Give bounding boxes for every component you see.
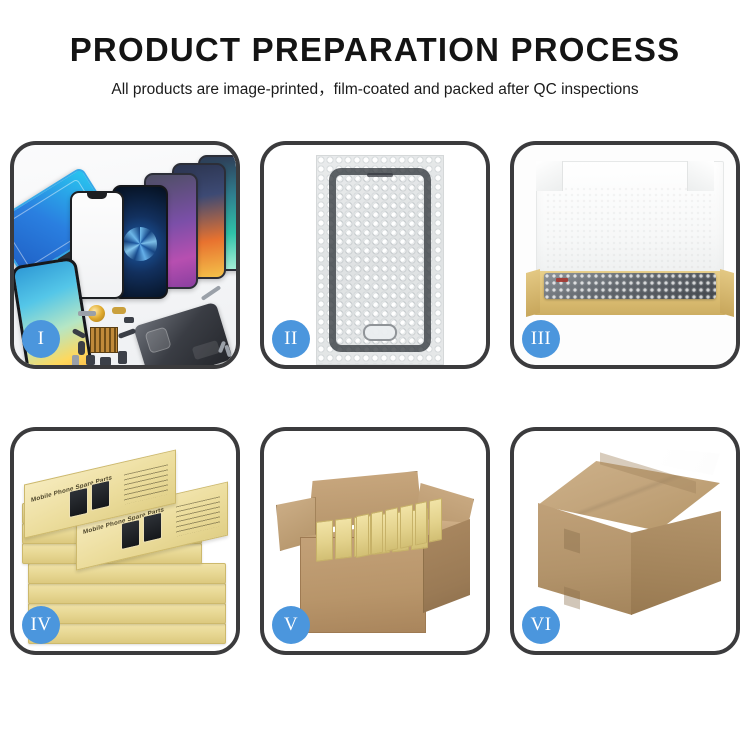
step-image-1: I: [14, 145, 236, 365]
foam-flap-right: [687, 161, 714, 191]
kraft-box-tray: [532, 271, 728, 315]
process-steps-grid: I II: [10, 141, 740, 655]
page-title: PRODUCT PREPARATION PROCESS: [0, 32, 750, 68]
header: PRODUCT PREPARATION PROCESS All products…: [0, 0, 750, 100]
step-panel-1[interactable]: I: [10, 141, 240, 369]
step-badge-1: I: [22, 320, 60, 358]
product-preparation-process-page: PRODUCT PREPARATION PROCESS All products…: [0, 0, 750, 750]
step-badge-6: VI: [522, 606, 560, 644]
box-product-thumbnail: [91, 480, 110, 511]
step-badge-4: IV: [22, 606, 60, 644]
box-spec-text-lines: [124, 464, 168, 504]
retail-box-edge: [28, 583, 226, 604]
retail-box-in-carton: [415, 501, 428, 546]
bubble-wrap-sheet: [316, 155, 444, 365]
step-image-6: VI: [514, 431, 736, 651]
small-part-icon: [100, 357, 111, 365]
box-spec-text-lines: [176, 496, 220, 536]
retail-box-edge: [28, 563, 226, 584]
box-product-thumbnail: [69, 487, 88, 518]
step-image-3: III: [514, 145, 736, 365]
label-sticker-icon: [556, 278, 568, 282]
small-part-icon: [124, 317, 134, 323]
screen-swirl-graphic: [123, 227, 157, 261]
step-badge-3: III: [522, 320, 560, 358]
retail-box-in-carton: [356, 513, 369, 558]
small-part-icon: [78, 311, 96, 316]
step-image-5: V: [264, 431, 486, 651]
box-product-thumbnail: [143, 512, 162, 543]
wrapped-screen-outline: [329, 168, 431, 352]
step-image-2: II: [264, 145, 486, 365]
retail-box-in-carton: [316, 520, 333, 562]
retail-box-in-carton: [400, 504, 413, 549]
wrapped-screen-in-box: [544, 273, 716, 299]
foam-flap-left: [536, 161, 563, 191]
small-part-icon: [86, 355, 95, 365]
step-panel-5[interactable]: V: [260, 427, 490, 655]
step-panel-2[interactable]: II: [260, 141, 490, 369]
step-panel-4[interactable]: Mobile Phone Spare Parts Mobile Phone Sp…: [10, 427, 240, 655]
step-image-4: Mobile Phone Spare Parts Mobile Phone Sp…: [14, 431, 236, 651]
step-badge-2: II: [272, 320, 310, 358]
retail-box-in-carton: [385, 507, 398, 552]
chip-grid-part-icon: [90, 327, 118, 353]
page-subtitle: All products are image-printed，film-coat…: [0, 81, 750, 100]
small-part-icon: [118, 351, 127, 364]
retail-box-in-carton: [371, 510, 384, 555]
small-part-icon: [72, 355, 79, 365]
step-panel-3[interactable]: III: [510, 141, 740, 369]
small-part-icon: [112, 307, 126, 314]
home-button-icon: [363, 324, 397, 341]
step-panel-6[interactable]: VI: [510, 427, 740, 655]
step-badge-5: V: [272, 606, 310, 644]
box-product-thumbnail: [121, 519, 140, 550]
retail-box-in-carton: [335, 517, 352, 559]
flex-cable-icon: [78, 341, 85, 355]
retail-box-in-carton: [429, 498, 442, 543]
